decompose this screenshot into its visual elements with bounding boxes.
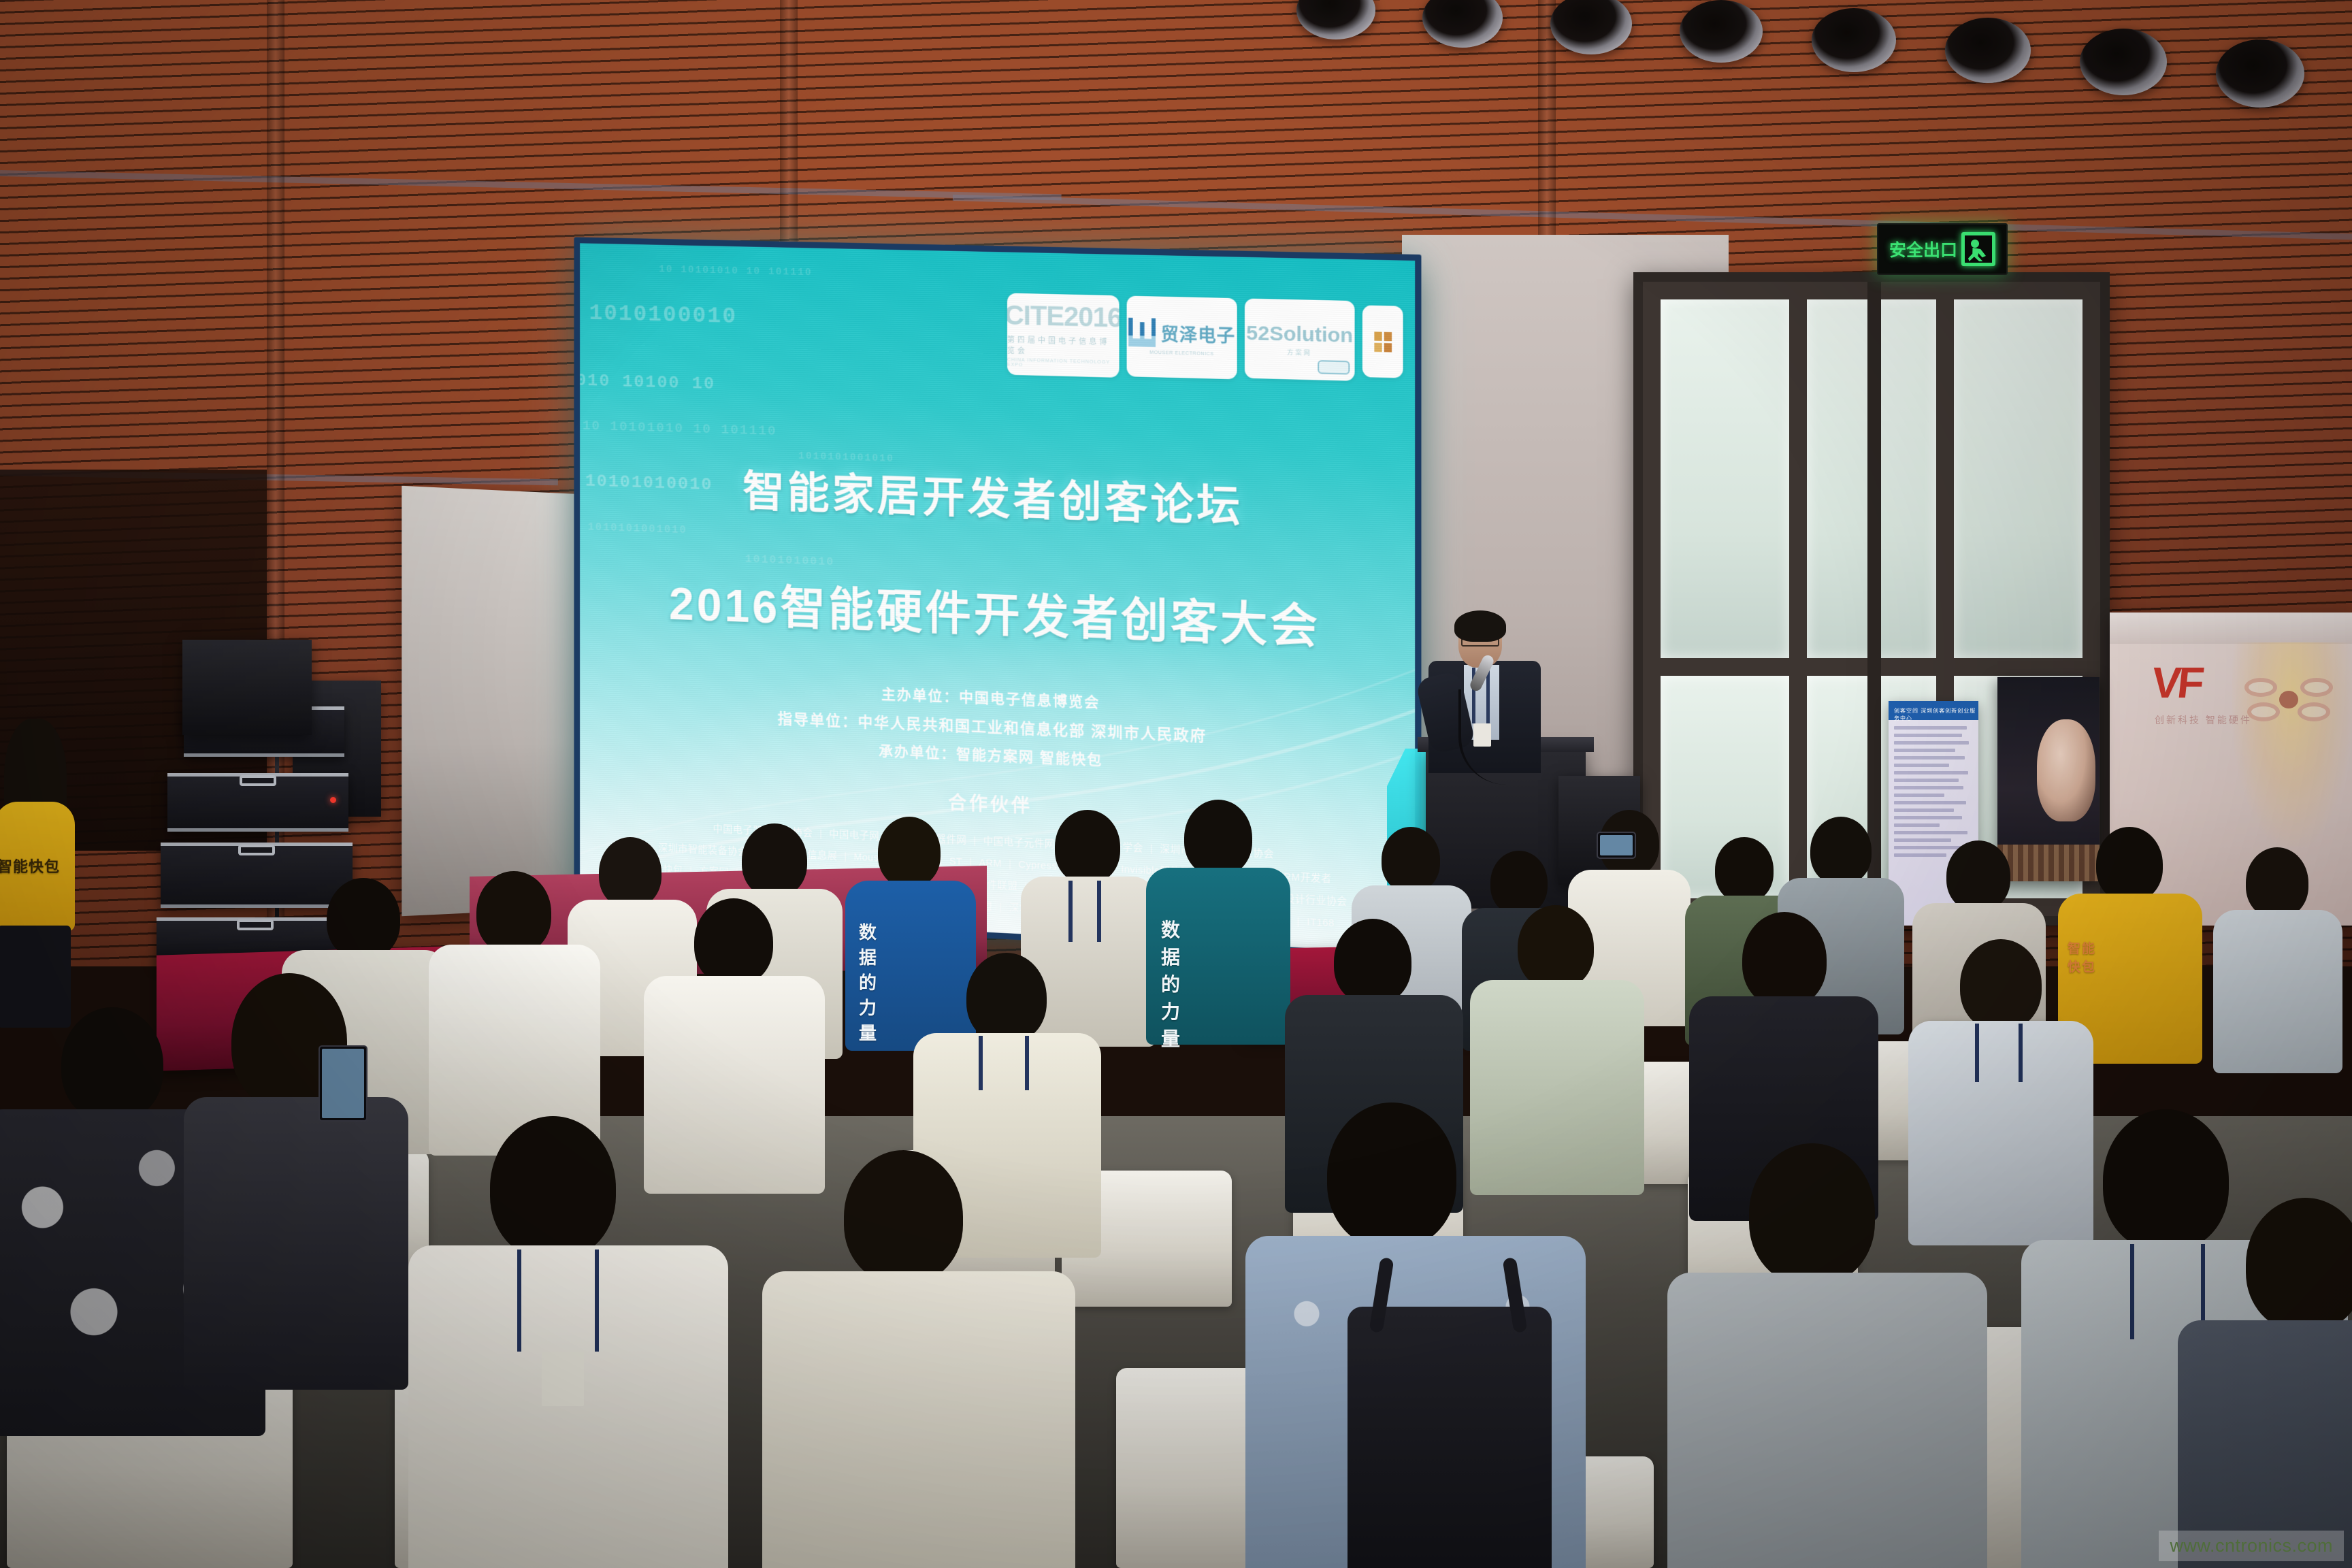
person-dark-top: [184, 1097, 408, 1390]
person-striped-shirt: [1470, 980, 1644, 1195]
person-head: [742, 823, 807, 897]
door-glass-pane: [1661, 299, 1789, 658]
person-head: [61, 1007, 163, 1122]
person-head: [327, 878, 400, 960]
door-glass-pane: [1954, 299, 2082, 658]
ceiling-vent-icon: [2216, 39, 2304, 108]
conference-hall-photo: 安全出口 VF 创新科技 智能硬件 创客空间 深圳创客创新创业服务中心 1010…: [0, 0, 2352, 1568]
partner-name: 深圳市智能装备协会: [658, 843, 747, 858]
poster-footer-band: [1997, 845, 2100, 881]
lanyard: [979, 1036, 1029, 1090]
poster-header-text: 创客空间 深圳创客创新创业服务中心: [1889, 701, 1978, 722]
drone-icon: [2244, 678, 2333, 721]
binary-decor: 010 10100 10: [580, 370, 715, 394]
binary-decor: 10101010010: [745, 553, 835, 569]
speaker-presenter: [1419, 616, 1548, 772]
booth-header-bar: [2110, 612, 2352, 644]
poster-header-bar: 创客空间 深圳创客创新创业服务中心: [1889, 701, 1978, 720]
binary-decor: 10 10101010 10 101110: [583, 419, 777, 440]
booth-logo: VF: [2149, 657, 2204, 708]
person-light-shirt: [2213, 910, 2342, 1073]
partner-name: Cypress: [1018, 860, 1057, 872]
person-head: [1334, 919, 1411, 1004]
partner-grid-icon: [1374, 331, 1392, 352]
logo-mouser: 贸泽电子 MOUSER ELECTRONICS: [1127, 296, 1237, 380]
person-head: [490, 1116, 616, 1259]
pa-speaker-cabinet: [182, 640, 312, 735]
partner-separator: |: [1297, 917, 1300, 928]
tshirt-slogan: 数据的力量: [1161, 915, 1184, 1051]
smartphone-icon[interactable]: [1597, 832, 1636, 859]
logo-partner-mark: [1362, 305, 1403, 378]
emergency-exit-sign: 安全出口: [1877, 223, 2008, 275]
flight-case: [161, 843, 353, 908]
ceiling-vent-icon: [2080, 29, 2167, 95]
binary-decor: 10 10101010 10 101110: [659, 263, 813, 278]
partner-name: 中国电子元件网: [983, 836, 1055, 851]
person-head: [1810, 817, 1872, 885]
person-head: [1749, 1143, 1875, 1285]
logo-mouser-en: MOUSER ELECTRONICS: [1149, 350, 1214, 357]
binary-decor: 1010100010: [589, 301, 737, 330]
person-grey-shirt: [1667, 1273, 1987, 1568]
staff-trousers: [0, 926, 71, 1028]
smartphone-icon[interactable]: [318, 1045, 367, 1122]
logo-52solution-sub: 方案网: [1287, 347, 1312, 357]
eyeglasses-icon: [1461, 638, 1499, 647]
person-head: [2246, 1198, 2352, 1331]
binary-decor: 1010101001010: [588, 521, 687, 537]
person-light-shirt: [762, 1271, 1075, 1568]
person-head: [1184, 800, 1252, 876]
staff-member-left: 智能快包: [0, 721, 88, 1007]
site-watermark: www.cntronics.com: [2159, 1531, 2344, 1561]
ceiling-vent-icon: [1812, 8, 1896, 72]
booth-spotlight: [2232, 642, 2352, 847]
exit-sign-label: 安全出口: [1889, 237, 1957, 261]
logo-52solution-badge-icon: [1318, 360, 1350, 374]
slide-content: 1010100010 010 10100 10 10 10101010 10 1…: [580, 243, 1415, 953]
door-mullion: [1867, 282, 1881, 935]
person-head: [1715, 837, 1774, 902]
logo-cite2016: CITE2016 第四届中国电子信息博览会 CHINA INFORMATION …: [1007, 293, 1120, 378]
poster-portrait: [2037, 719, 2095, 821]
ceiling-vent-icon: [1680, 0, 1763, 63]
partner-name: 中国电子网: [829, 829, 879, 842]
stage-side-panel: [402, 486, 578, 916]
person-head: [1946, 840, 2010, 911]
partner-separator: |: [819, 829, 822, 840]
staff-shirt-text: 智能快包: [2068, 938, 2096, 975]
slide-organizers: 主办单位：中国电子信息博览会 指导单位：中华人民共和国工业和信息化部 深圳市人民…: [580, 672, 1415, 791]
led-presentation-screen: 1010100010 010 10100 10 10 10101010 10 1…: [580, 243, 1415, 953]
lanyard: [517, 1249, 599, 1352]
person-head: [1382, 827, 1440, 892]
case-handle[interactable]: [238, 845, 275, 855]
person-head: [878, 817, 941, 887]
person-head: [2096, 827, 2163, 902]
logo-52solution-main: 52Solution: [1246, 321, 1353, 347]
person-head: [694, 898, 773, 985]
person-head: [1490, 851, 1548, 915]
slide-title-secondary: 2016智能硬件开发者创客大会: [580, 563, 1415, 660]
lanyard: [1975, 1024, 2023, 1082]
staff-shirt-text: 智能快包: [0, 855, 60, 877]
booth-subtitle: 创新科技 智能硬件: [2155, 713, 2252, 727]
person-head: [2103, 1109, 2229, 1251]
person-head: [1742, 912, 1827, 1007]
partner-separator: |: [999, 902, 1002, 913]
person-head: [1327, 1102, 1456, 1248]
partner-name: IT168: [1307, 917, 1335, 929]
person-head: [2246, 847, 2308, 918]
person-head: [844, 1150, 963, 1284]
logo-52solution: 52Solution 方案网: [1245, 298, 1355, 380]
tshirt-slogan: 数据的力量: [859, 919, 879, 1045]
partner-separator: |: [1150, 844, 1153, 855]
status-led: [330, 797, 336, 803]
advertising-poster: [1997, 677, 2100, 881]
person-white-shirt: [644, 976, 825, 1194]
person-head: [966, 953, 1047, 1043]
person-head: [476, 871, 551, 954]
person-head: [1055, 810, 1120, 883]
slide-logo-row: CITE2016 第四届中国电子信息博览会 CHINA INFORMATION …: [1007, 293, 1403, 385]
lanyard: [1068, 881, 1101, 942]
person-head: [1518, 905, 1594, 990]
flight-case: [167, 773, 348, 832]
badge-card: [542, 1352, 584, 1406]
backpack: [1347, 1307, 1552, 1568]
logo-cite-main: CITE2016: [1007, 300, 1120, 333]
partner-separator: |: [1009, 859, 1011, 870]
mouser-mark-icon: [1128, 318, 1156, 347]
logo-cite-sub-cn: 第四届中国电子信息博览会: [1007, 334, 1120, 359]
logo-mouser-cn: 贸泽电子: [1161, 320, 1236, 347]
partner-separator: |: [973, 836, 976, 847]
running-person-exit-icon: [1961, 232, 1995, 266]
ceiling-vent-icon: [1945, 18, 2031, 83]
person-head: [599, 837, 661, 908]
person-head: [1960, 939, 2042, 1030]
case-handle[interactable]: [237, 919, 274, 930]
partner-separator: |: [844, 851, 847, 862]
case-handle[interactable]: [240, 775, 276, 786]
slide-title-primary: 智能家居开发者创客论坛: [580, 452, 1415, 540]
logo-cite-sub-en: CHINA INFORMATION TECHNOLOGY EXPO: [1007, 358, 1120, 370]
